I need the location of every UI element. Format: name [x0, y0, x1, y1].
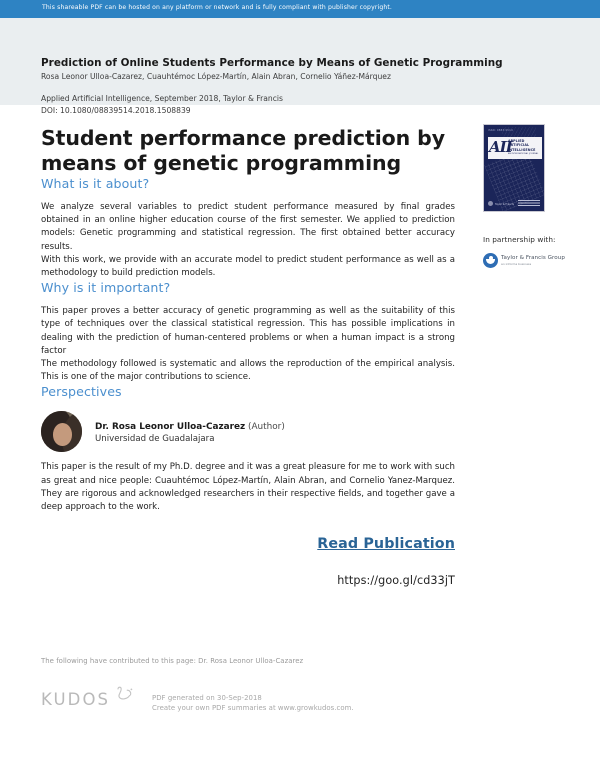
page-footer: The following have contributed to this p…: [41, 657, 511, 714]
read-publication-row: Read Publication: [41, 533, 455, 552]
section-heading-perspectives: Perspectives: [41, 384, 455, 400]
perspective-author-name: Dr. Rosa Leonor Ulloa-Cazarez: [95, 422, 245, 432]
citation-block: Prediction of Online Students Performanc…: [41, 56, 541, 116]
pdf-page: This shareable PDF can be hosted on any …: [0, 0, 600, 776]
section-paragraph: We analyze several variables to predict …: [41, 201, 455, 254]
taylor-francis-wordmark: Taylor & Francis Group an informa busine…: [501, 255, 565, 266]
section-paragraph: With this work, we provide with an accur…: [41, 254, 455, 280]
copyright-banner: This shareable PDF can be hosted on any …: [0, 0, 600, 18]
perspective-author: Dr. Rosa Leonor Ulloa-Cazarez (Author) U…: [41, 411, 455, 452]
cover-publisher-mark: [488, 201, 493, 206]
journal-cover-image: ISSN: 0883-9514 AII APPLIED ARTIFICIAL I…: [483, 124, 545, 212]
cover-issn: ISSN: 0883-9514: [488, 129, 513, 132]
perspective-author-meta: Dr. Rosa Leonor Ulloa-Cazarez (Author) U…: [95, 411, 285, 445]
citation-title: Prediction of Online Students Performanc…: [41, 56, 541, 70]
footer-brand-row: KUDOS PDF generated on 30-Sep-2018 Creat…: [41, 689, 511, 714]
footer-promo: Create your own PDF summaries at www.gro…: [152, 703, 354, 713]
avatar: [41, 411, 82, 452]
right-sidebar: ISSN: 0883-9514 AII APPLIED ARTIFICIAL I…: [483, 124, 578, 268]
section-paragraph: The methodology followed is systematic a…: [41, 358, 455, 384]
partner-sub: an informa business: [501, 262, 565, 266]
main-content: Student performance prediction by means …: [41, 126, 455, 587]
citation-journal: Applied Artificial Intelligence, Septemb…: [41, 93, 541, 105]
short-url[interactable]: https://goo.gl/cd33jT: [41, 574, 455, 587]
partnership-label: In partnership with:: [483, 235, 578, 244]
citation-authors: Rosa Leonor Ulloa-Cazarez, Cuauhtémoc Ló…: [41, 71, 541, 83]
taylor-francis-logo: Taylor & Francis Group an informa busine…: [483, 253, 578, 268]
cover-publisher-name: Taylor & Francis: [495, 203, 514, 206]
footer-text-block: PDF generated on 30-Sep-2018 Create your…: [152, 689, 354, 714]
perspective-author-role: (Author): [245, 422, 285, 432]
section-paragraph: This paper proves a better accuracy of g…: [41, 305, 455, 358]
avatar-face: [53, 423, 72, 446]
section-heading-why-is-it-important: Why is it important?: [41, 280, 455, 296]
page-title: Student performance prediction by means …: [41, 126, 455, 176]
kudos-swirl-icon: [114, 686, 134, 703]
read-publication-link[interactable]: Read Publication: [317, 536, 455, 552]
contributors-line: The following have contributed to this p…: [41, 657, 511, 665]
cover-barcode: [518, 199, 540, 206]
perspective-author-affiliation: Universidad de Guadalajara: [95, 433, 285, 445]
citation-header: Prediction of Online Students Performanc…: [0, 18, 600, 105]
taylor-francis-icon: [483, 253, 498, 268]
perspective-statement: This paper is the result of my Ph.D. deg…: [41, 461, 455, 514]
partner-name: Taylor & Francis Group: [501, 255, 565, 262]
section-heading-what-is-it-about: What is it about?: [41, 176, 455, 192]
citation-doi: DOI: 10.1080/08839514.2018.1508839: [41, 105, 541, 117]
copyright-banner-text: This shareable PDF can be hosted on any …: [42, 4, 392, 11]
kudos-logo: KUDOS: [41, 689, 146, 709]
footer-generated-date: PDF generated on 30-Sep-2018: [152, 693, 354, 703]
perspective-author-name-line: Dr. Rosa Leonor Ulloa-Cazarez (Author): [95, 421, 285, 433]
